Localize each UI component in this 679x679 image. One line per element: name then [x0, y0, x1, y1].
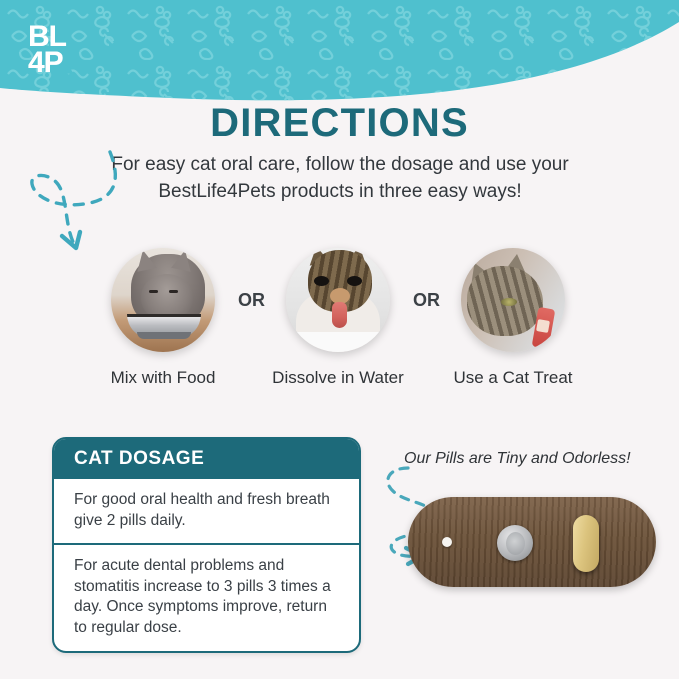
page-title: DIRECTIONS: [0, 101, 679, 146]
usage-method-label: Use a Cat Treat: [438, 368, 588, 388]
paw-print-icon: [63, 64, 74, 75]
dashed-curved-arrow-icon-left: [18, 148, 128, 263]
cat-eating-from-bowl-photo: [111, 248, 215, 352]
tiny-white-pill: [442, 537, 452, 547]
usage-method-use-a-cat-treat: Use a Cat Treat: [438, 248, 588, 388]
usage-method-dissolve-in-water: Dissolve in Water: [263, 248, 413, 388]
separator-or-1: OR: [238, 290, 265, 311]
cat-drinking-water-photo: [286, 248, 390, 352]
cat-dosage-row-maintenance: For good oral health and fresh breath gi…: [54, 479, 359, 543]
us-dime-coin: [497, 525, 533, 561]
page-root: BL 4P DIRECTIONS For easy cat oral care,…: [0, 0, 679, 679]
brand-logo: BL 4P: [28, 22, 80, 84]
usage-method-label: Dissolve in Water: [263, 368, 413, 388]
page-subtitle: For easy cat oral care, follow the dosag…: [110, 152, 570, 206]
pill-comparison-board: [408, 497, 656, 587]
cat-with-treat-tube-photo: [461, 248, 565, 352]
separator-or-2: OR: [413, 290, 440, 311]
usage-method-label: Mix with Food: [88, 368, 238, 388]
usage-methods-group: Mix with Food OR Dissolve in Water OR: [0, 248, 679, 398]
cat-dosage-card: CAT DOSAGE For good oral health and fres…: [52, 437, 361, 653]
top-banner: BL 4P: [0, 0, 679, 112]
banner-wave-shape: [0, 0, 679, 112]
cat-dosage-card-heading: CAT DOSAGE: [54, 439, 359, 479]
usage-method-mix-with-food: Mix with Food: [88, 248, 238, 388]
cat-dosage-row-acute: For acute dental problems and stomatitis…: [54, 543, 359, 650]
large-yellow-capsule: [573, 515, 599, 572]
